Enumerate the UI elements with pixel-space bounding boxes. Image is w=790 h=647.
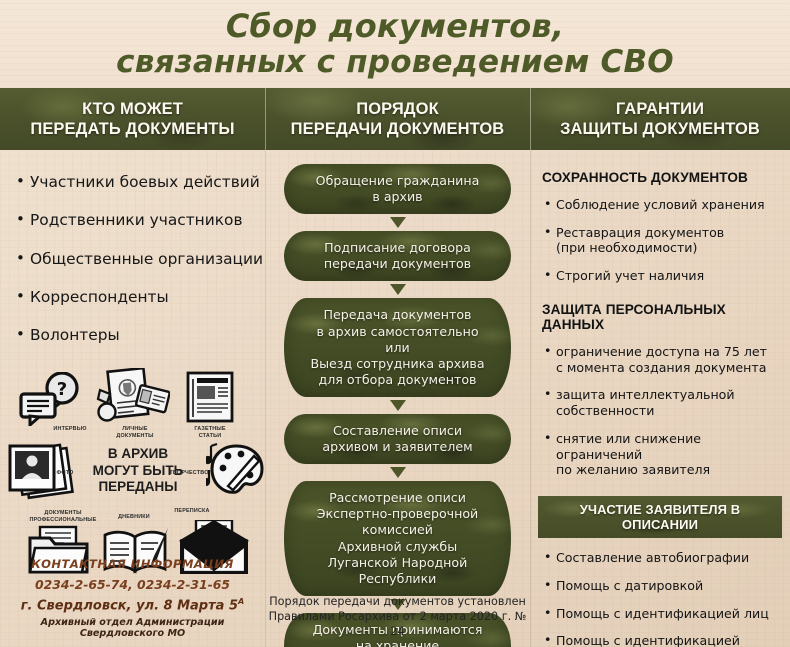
header-col2-line2: ПЕРЕДАЧИ ДОКУМЕНТОВ [291, 119, 505, 139]
list-item-line-1: снятие или снижение ограничений [556, 431, 701, 462]
header-col1-line1: КТО МОЖЕТ [82, 99, 183, 119]
list-item: Общественные организации [16, 251, 265, 268]
flow-step-4-line-2: архивом и заявителем [294, 439, 501, 455]
list-item: Строгий учет наличия [542, 268, 778, 284]
flow-step-5-line-3: Архивной службы [294, 539, 501, 555]
header-divider-2 [530, 88, 531, 150]
list-item: Волонтеры [16, 327, 265, 344]
list-item-line-1: ограничение доступа на 75 лет [556, 344, 767, 359]
creativity-icon [206, 440, 264, 503]
list-item: ограничение доступа на 75 лет с момента … [542, 344, 778, 375]
infographic-poster: Сбор документов, связанных с проведением… [0, 0, 790, 647]
flow-step-2-line-2: передачи документов [294, 256, 501, 272]
flow-step-4-line-1: Составление описи [294, 423, 501, 439]
poster-body: Участники боевых действий Родственники у… [0, 150, 790, 647]
column-transfer-procedure: Обращение гражданина в архив Подписание … [265, 150, 530, 647]
transfer-flowchart: Обращение гражданина в архив Подписание … [265, 164, 530, 647]
list-item: Корреспонденты [16, 289, 265, 306]
column-protection-guarantees: СОХРАННОСТЬ ДОКУМЕНТОВ Соблюдение услови… [530, 150, 790, 647]
list-item: снятие или снижение ограничений по желан… [542, 431, 778, 478]
procedure-legal-note: Порядок передачи документов установлен П… [265, 594, 530, 639]
svg-text:?: ? [57, 379, 67, 400]
flow-arrow-3 [390, 400, 406, 411]
list-item: защита интеллектуальной собственности [542, 387, 778, 418]
header-divider-1 [265, 88, 266, 150]
header-col3-line2: ЗАЩИТЫ ДОКУМЕНТОВ [560, 119, 760, 139]
title-line-2: связанных с проведением СВО [116, 46, 674, 79]
flow-step-1: Обращение гражданина в архив [284, 164, 511, 214]
header-who-can-transfer: КТО МОЖЕТ ПЕРЕДАТЬ ДОКУМЕНТЫ [0, 88, 265, 150]
list-item-line-2: по желанию заявителя [556, 462, 778, 478]
list-item: Соблюдение условий хранения [542, 197, 778, 213]
personal-data-protection-list: ограничение доступа на 75 лет с момента … [542, 344, 778, 478]
list-item-line-2: с момента создания документа [556, 360, 778, 376]
column-who-can-transfer: Участники боевых действий Родственники у… [0, 150, 265, 647]
flow-step-3-line-2: в архив самостоятельно [294, 324, 501, 340]
contact-heading: КОНТАКТНАЯ ИНФОРМАЦИЯ [0, 557, 265, 571]
flow-step-3-line-1: Передача документов [294, 307, 501, 323]
contact-phones: 0234-2-65-74, 0234-2-31-65 [0, 577, 265, 592]
list-item: Участники боевых действий [16, 174, 265, 191]
flow-arrow-2 [390, 284, 406, 295]
header-col1-line2: ПЕРЕДАТЬ ДОКУМЕНТЫ [30, 119, 234, 139]
procedure-note-line-2: Правилами Росархива от 2 марта 2020 г. №… [265, 609, 530, 639]
list-item: Составление автобиографии [542, 550, 778, 566]
newspaper-articles-icon [182, 371, 238, 430]
flow-step-5-line-1: Рассмотрение описи [294, 490, 501, 506]
list-item: Родственники участников [16, 212, 265, 229]
list-item: Помощь с идентификацией лиц [542, 606, 778, 622]
correspondence-icon-label: ПЕРЕПИСКА [168, 508, 216, 515]
personal-documents-icon [96, 368, 170, 431]
list-item-line-1: Реставрация документов [556, 225, 724, 240]
list-item: Реставрация документов (при необходимост… [542, 225, 778, 256]
flow-step-3-line-3: или [294, 340, 501, 356]
newspaper-articles-icon-label: ГАЗЕТНЫЕ СТАТЬИ [180, 426, 240, 440]
header-protection-guarantees: ГАРАНТИИ ЗАЩИТЫ ДОКУМЕНТОВ [530, 88, 790, 150]
flow-step-5-line-2: Экспертно-проверочной комиссией [294, 506, 501, 538]
center-caption-line1: В АРХИВ [86, 446, 190, 463]
applicant-participation-list: Составление автобиографии Помощь с датир… [542, 550, 778, 647]
flow-step-3-line-5: для отбора документов [294, 372, 501, 388]
flow-step-1-line-1: Обращение гражданина [294, 173, 501, 189]
header-col3-line1: ГАРАНТИИ [616, 99, 704, 119]
creativity-icon-label: ТВОРЧЕСТВО [166, 470, 212, 477]
poster-title: Сбор документов, связанных с проведением… [0, 0, 790, 88]
contact-address: г. Свердловск, ул. 8 Марта 5А [0, 597, 265, 613]
flow-step-5-line-4: Луганской Народной Республики [294, 555, 501, 587]
flow-step-1-line-2: в архив [294, 189, 501, 205]
list-item-line-1: защита интеллектуальной [556, 387, 735, 402]
contact-address-sup: А [238, 597, 244, 606]
header-col2-line1: ПОРЯДОК [356, 99, 439, 119]
list-item: Помощь с идентификацией объектов, событи… [542, 633, 778, 647]
interview-icon-label: ИНТЕРВЬЮ [48, 426, 92, 433]
flow-arrow-1 [390, 217, 406, 228]
list-item: Помощь с датировкой [542, 578, 778, 594]
flow-step-4: Составление описи архивом и заявителем [284, 414, 511, 464]
flow-step-2-line-1: Подписание договора [294, 240, 501, 256]
section-heading-document-preservation: СОХРАННОСТЬ ДОКУМЕНТОВ [542, 170, 778, 185]
professional-documents-icon-label: ДОКУМЕНТЫ ПРОФЕССИОНАЛЬНЫЕ [22, 510, 104, 524]
procedure-note-line-1: Порядок передачи документов установлен [265, 594, 530, 609]
list-item-line-2: собственности [556, 403, 778, 419]
flow-step-5: Рассмотрение описи Экспертно-проверочной… [284, 481, 511, 596]
section-heading-applicant-participation: УЧАСТИЕ ЗАЯВИТЕЛЯ В ОПИСАНИИ [538, 496, 782, 538]
contact-address-text: г. Свердловск, ул. 8 Марта 5 [21, 598, 238, 613]
interview-icon: ? [18, 372, 80, 431]
personal-documents-icon-label: ЛИЧНЫЕ ДОКУМЕНТЫ [104, 426, 166, 440]
contact-information: КОНТАКТНАЯ ИНФОРМАЦИЯ 0234-2-65-74, 0234… [0, 557, 265, 639]
flow-step-6-line-2: на хранение [294, 638, 501, 647]
flow-step-3: Передача документов в архив самостоятель… [284, 298, 511, 397]
center-caption-line3: ПЕРЕДАНЫ [86, 479, 190, 496]
photo-icon [6, 442, 76, 513]
photo-icon-label: ФОТО [50, 470, 80, 477]
diaries-icon-label: ДНЕВНИКИ [112, 514, 156, 521]
archive-accepts-icon-cluster: ? ИНТЕРВЬЮ [0, 368, 265, 568]
flow-step-2: Подписание договора передачи документов [284, 231, 511, 281]
list-item-line-1: Помощь с идентификацией [556, 633, 740, 647]
list-item-line-2: (при необходимости) [556, 240, 778, 256]
column-headers-band: КТО МОЖЕТ ПЕРЕДАТЬ ДОКУМЕНТЫ ПОРЯДОК ПЕР… [0, 88, 790, 150]
flow-arrow-4 [390, 467, 406, 478]
document-preservation-list: Соблюдение условий хранения Реставрация … [542, 197, 778, 284]
who-can-transfer-list: Участники боевых действий Родственники у… [0, 150, 265, 344]
flow-step-3-line-4: Выезд сотрудника архива [294, 356, 501, 372]
section-heading-personal-data-protection: ЗАЩИТА ПЕРСОНАЛЬНЫХ ДАННЫХ [542, 302, 778, 332]
title-line-1: Сбор документов, [226, 10, 564, 44]
contact-department: Архивный отдел Администрации Свердловско… [0, 617, 265, 639]
header-transfer-procedure: ПОРЯДОК ПЕРЕДАЧИ ДОКУМЕНТОВ [265, 88, 530, 150]
